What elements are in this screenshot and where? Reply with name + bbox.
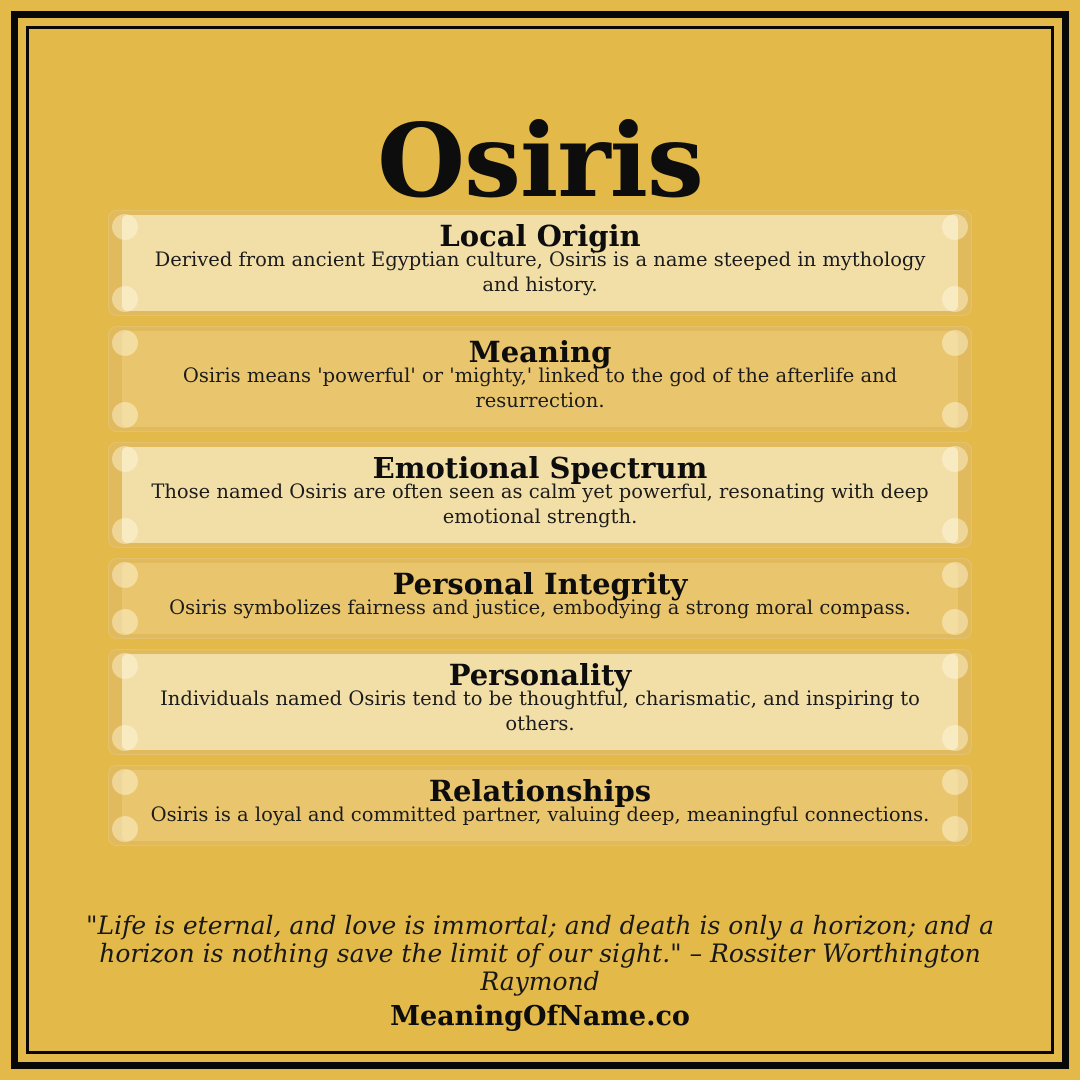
section-card-panel: RelationshipsOsiris is a loyal and commi… xyxy=(122,770,958,841)
section-card: Personal IntegrityOsiris symbolizes fair… xyxy=(108,558,972,639)
section-card-body: Those named Osiris are often seen as cal… xyxy=(140,479,940,529)
section-card-body: Derived from ancient Egyptian culture, O… xyxy=(140,247,940,297)
section-card: PersonalityIndividuals named Osiris tend… xyxy=(108,649,972,755)
section-card-panel: PersonalityIndividuals named Osiris tend… xyxy=(122,654,958,750)
name-meaning-poster: Osiris Local OriginDerived from ancient … xyxy=(0,0,1080,1080)
section-card: Local OriginDerived from ancient Egyptia… xyxy=(108,210,972,316)
section-card-panel: Emotional SpectrumThose named Osiris are… xyxy=(122,447,958,543)
section-card-body: Individuals named Osiris tend to be thou… xyxy=(140,686,940,736)
section-card-body: Osiris means 'powerful' or 'mighty,' lin… xyxy=(140,363,940,413)
section-card-panel: Local OriginDerived from ancient Egyptia… xyxy=(122,215,958,311)
brand-watermark: MeaningOfName.co xyxy=(50,1002,1030,1032)
section-card: MeaningOsiris means 'powerful' or 'might… xyxy=(108,326,972,432)
section-card-list: Local OriginDerived from ancient Egyptia… xyxy=(108,210,972,856)
section-card-panel: MeaningOsiris means 'powerful' or 'might… xyxy=(122,331,958,427)
section-card-panel: Personal IntegrityOsiris symbolizes fair… xyxy=(122,563,958,634)
poster-footer: "Life is eternal, and love is immortal; … xyxy=(50,912,1030,1032)
section-card-body: Osiris is a loyal and committed partner,… xyxy=(140,802,940,827)
section-card: Emotional SpectrumThose named Osiris are… xyxy=(108,442,972,548)
footer-quote: "Life is eternal, and love is immortal; … xyxy=(50,912,1030,996)
section-card-body: Osiris symbolizes fairness and justice, … xyxy=(140,595,940,620)
page-title: Osiris xyxy=(0,104,1080,217)
section-card: RelationshipsOsiris is a loyal and commi… xyxy=(108,765,972,846)
